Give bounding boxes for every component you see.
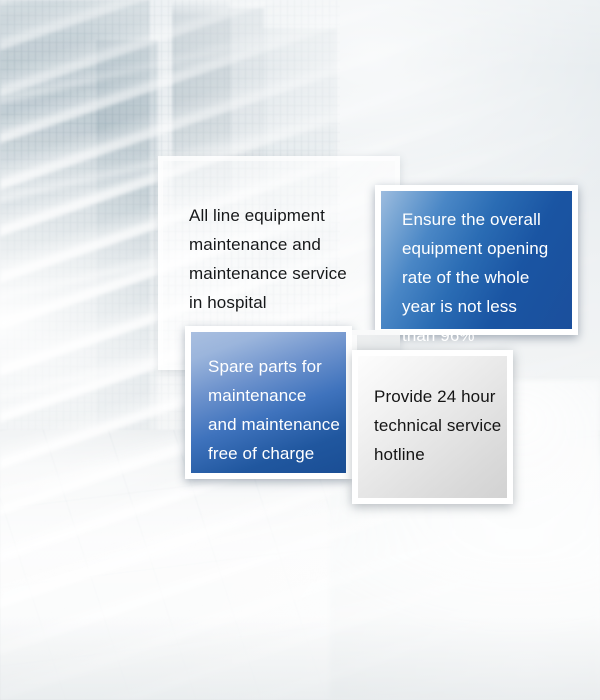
card-opening-rate-text: Ensure the overall equipment opening rat… (402, 205, 580, 350)
card-spare-parts-text: Spare parts for maintenance and maintena… (208, 352, 358, 468)
card-hotline[interactable]: Provide 24 hour technical service hotlin… (352, 350, 513, 504)
card-opening-rate[interactable]: Ensure the overall equipment opening rat… (375, 185, 578, 335)
card-hotline-text: Provide 24 hour technical service hotlin… (374, 382, 514, 469)
service-highlights-banner: All line equipment maintenance and maint… (0, 0, 600, 700)
card-line-equipment-text: All line equipment maintenance and maint… (189, 201, 385, 317)
card-spare-parts[interactable]: Spare parts for maintenance and maintena… (185, 326, 352, 479)
